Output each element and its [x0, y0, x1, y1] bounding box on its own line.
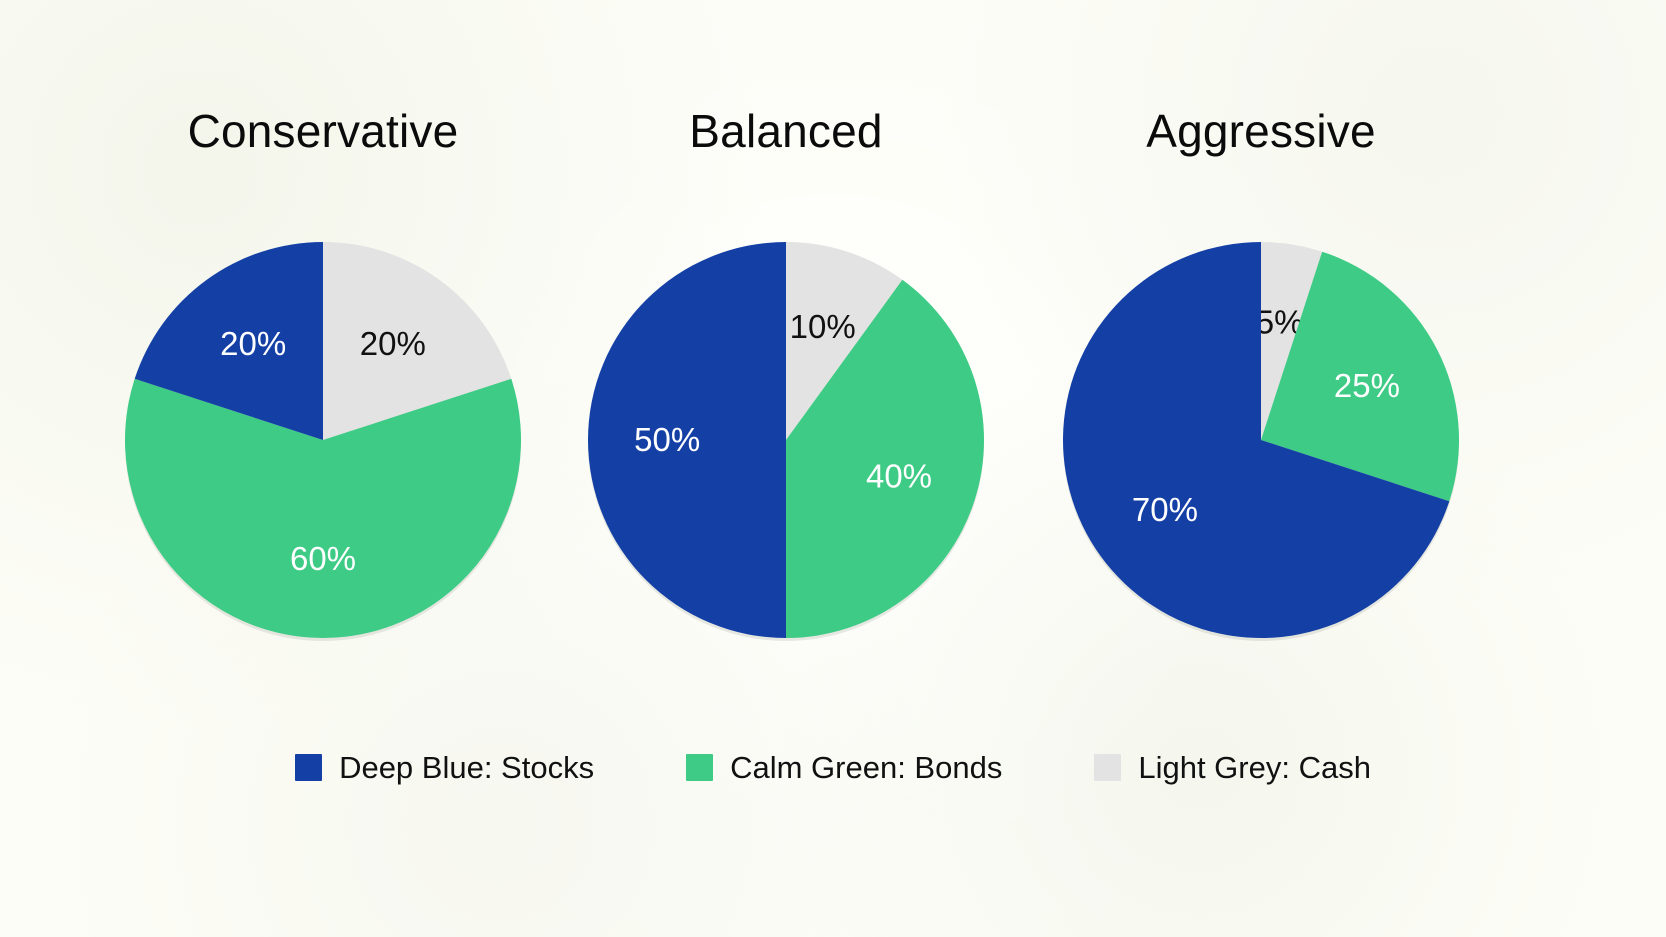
chart-legend: Deep Blue: Stocks Calm Green: Bonds Ligh… [0, 722, 1666, 812]
legend-item-stocks[interactable]: Deep Blue: Stocks [295, 752, 594, 783]
pie-svg-conservative: 20%60%20% [123, 240, 523, 640]
pie-panel-conservative: Conservative 20%60%20% [63, 0, 583, 700]
pie-slice-label-cash: 20% [360, 325, 426, 362]
legend-item-cash[interactable]: Light Grey: Cash [1094, 752, 1371, 783]
pie-slice-label-stocks: 50% [634, 421, 700, 458]
pie-slice-label-cash: 10% [790, 308, 856, 345]
legend-swatch-cash [1094, 754, 1121, 781]
pie-svg-balanced: 10%40%50% [586, 240, 986, 640]
pie-panel-balanced: Balanced 10%40%50% [526, 0, 1046, 700]
allocation-pie-figure: Conservative 20%60%20% Balanced 10%40%50… [0, 0, 1666, 937]
legend-label-stocks: Deep Blue: Stocks [339, 752, 594, 783]
pie-title-conservative: Conservative [63, 108, 583, 154]
legend-swatch-bonds [686, 754, 713, 781]
pie-slice-label-bonds: 60% [290, 540, 356, 577]
pie-slice-label-stocks: 20% [220, 325, 286, 362]
pie-chart-conservative[interactable]: 20%60%20% [123, 240, 523, 640]
legend-item-bonds[interactable]: Calm Green: Bonds [686, 752, 1002, 783]
pie-slice-label-stocks: 70% [1132, 491, 1198, 528]
pie-slice-label-bonds: 25% [1334, 367, 1400, 404]
legend-label-cash: Light Grey: Cash [1138, 752, 1371, 783]
pie-panel-group: Conservative 20%60%20% Balanced 10%40%50… [0, 0, 1666, 700]
legend-label-bonds: Calm Green: Bonds [730, 752, 1002, 783]
pie-title-balanced: Balanced [526, 108, 1046, 154]
pie-chart-aggressive[interactable]: 5%25%70% [1061, 240, 1461, 640]
pie-svg-aggressive: 5%25%70% [1061, 240, 1461, 640]
pie-slice-label-bonds: 40% [866, 458, 932, 495]
legend-swatch-stocks [295, 754, 322, 781]
pie-chart-balanced[interactable]: 10%40%50% [586, 240, 986, 640]
pie-panel-aggressive: Aggressive 5%25%70% [1001, 0, 1521, 700]
pie-title-aggressive: Aggressive [1001, 108, 1521, 154]
